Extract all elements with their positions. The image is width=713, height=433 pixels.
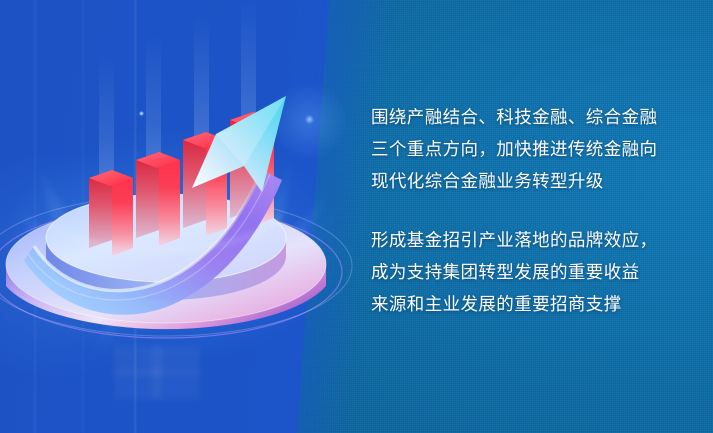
paragraph-outcome-line-1: 形成基金招引产业落地的品牌效应， [371,224,691,256]
copy-block: 围绕产融结合、科技金融、综合金融 三个重点方向，加快推进传统金融向 现代化综合金… [371,101,691,320]
paragraph-strategy-line-2: 三个重点方向，加快推进传统金融向 [371,133,691,165]
paragraph-strategy: 围绕产融结合、科技金融、综合金融 三个重点方向，加快推进传统金融向 现代化综合金… [371,101,691,197]
growth-chart-illustration [0,96,340,346]
paragraph-strategy-line-3: 现代化综合金融业务转型升级 [371,165,691,197]
paragraph-outcome-line-3: 来源和主业发展的重要招商支撑 [371,288,691,320]
banner-canvas: 围绕产融结合、科技金融、综合金融 三个重点方向，加快推进传统金融向 现代化综合金… [0,0,713,433]
paragraph-outcome-line-2: 成为支持集团转型发展的重要收益 [371,256,691,288]
paragraph-outcome: 形成基金招引产业落地的品牌效应， 成为支持集团转型发展的重要收益 来源和主业发展… [371,224,691,320]
paragraph-strategy-line-1: 围绕产融结合、科技金融、综合金融 [371,101,691,133]
